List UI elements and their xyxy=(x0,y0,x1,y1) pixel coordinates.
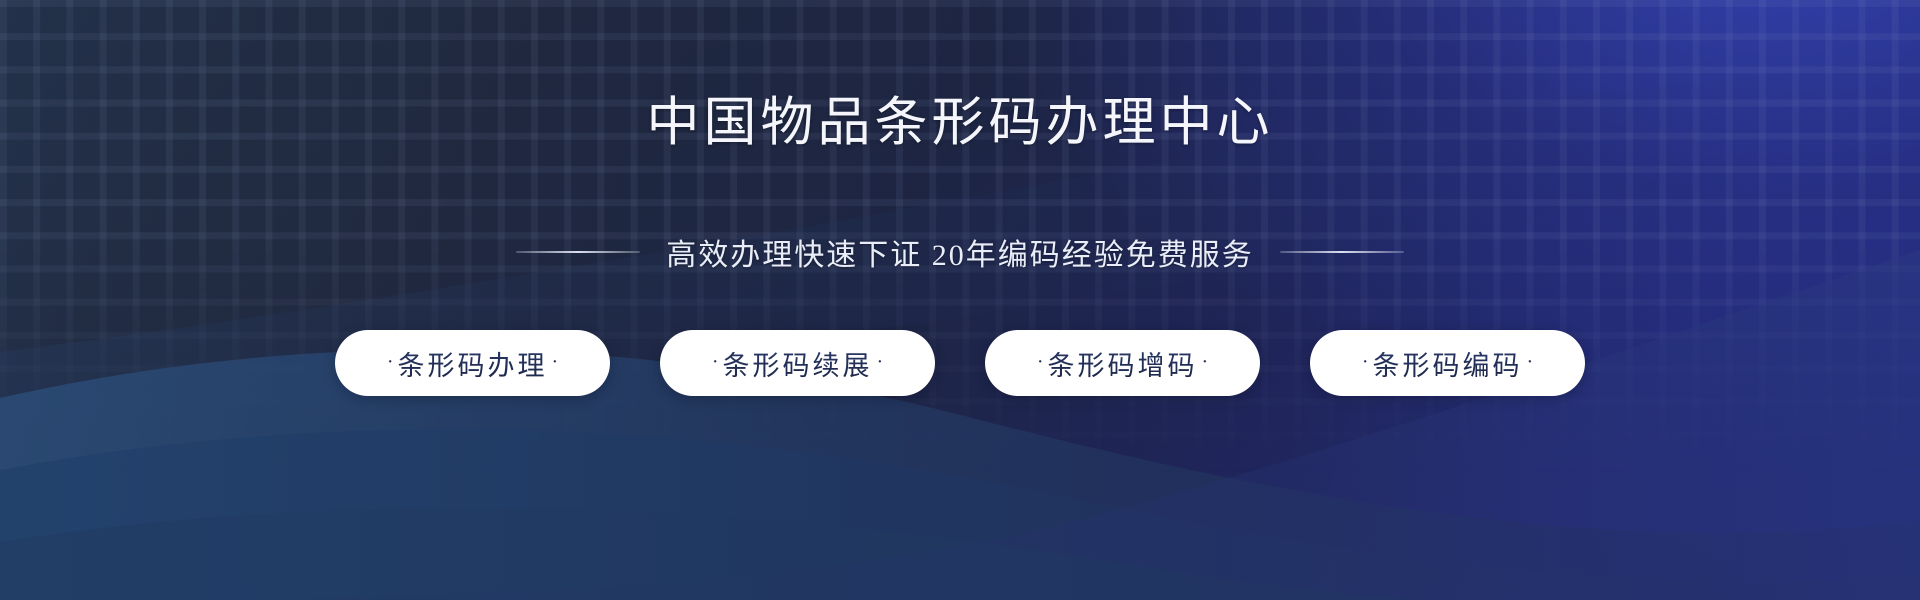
page-title: 中国物品条形码办理中心 xyxy=(647,97,1274,150)
service-pill-label: 条形码增码 xyxy=(1048,344,1198,383)
service-pill-barcode-encode[interactable]: · 条形码编码 · xyxy=(1310,330,1585,396)
service-pill-list: · 条形码办理 · · 条形码续展 · · 条形码增码 · · 条形码编码 · xyxy=(335,330,1585,396)
subtitle-row: 高效办理快速下证 20年编码经验免费服务 xyxy=(516,230,1404,274)
service-pill-barcode-renew[interactable]: · 条形码续展 · xyxy=(660,330,935,396)
left-rule-divider xyxy=(516,251,640,253)
promo-banner: 中国物品条形码办理中心 高效办理快速下证 20年编码经验免费服务 · 条形码办理… xyxy=(0,0,1920,600)
service-pill-barcode-add[interactable]: · 条形码增码 · xyxy=(985,330,1260,396)
service-pill-barcode-apply[interactable]: · 条形码办理 · xyxy=(335,330,610,396)
service-pill-label: 条形码续展 xyxy=(723,344,873,383)
service-pill-label: 条形码办理 xyxy=(398,344,548,383)
banner-content: 中国物品条形码办理中心 高效办理快速下证 20年编码经验免费服务 · 条形码办理… xyxy=(0,0,1920,600)
banner-subtitle: 高效办理快速下证 20年编码经验免费服务 xyxy=(666,230,1254,274)
right-rule-divider xyxy=(1280,251,1404,253)
service-pill-label: 条形码编码 xyxy=(1373,344,1523,383)
